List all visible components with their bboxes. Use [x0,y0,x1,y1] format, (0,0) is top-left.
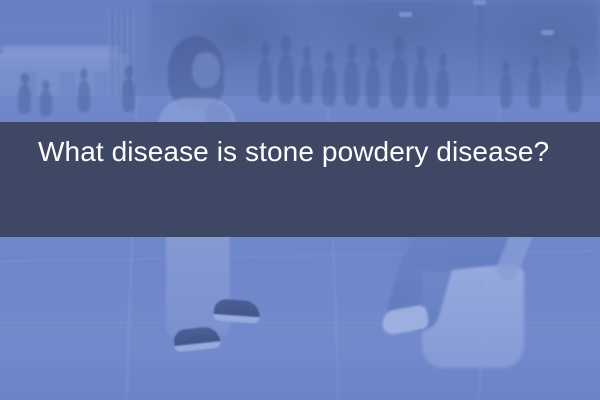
question-card: What disease is stone powdery disease? [0,0,600,400]
caption-band: What disease is stone powdery disease? [0,122,600,237]
question-text: What disease is stone powdery disease? [38,135,574,169]
